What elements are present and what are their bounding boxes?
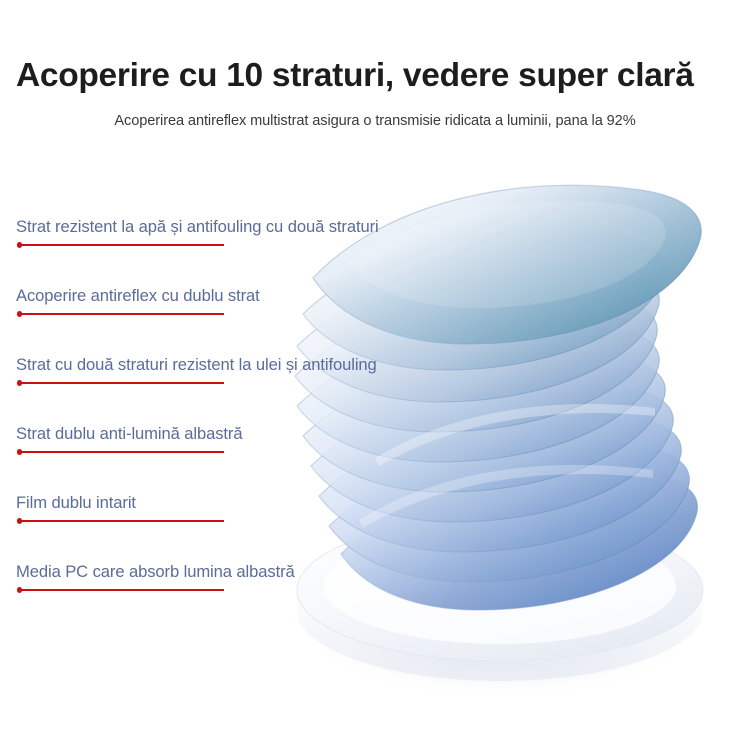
callout-item-6: Media PC care absorb lumina albastră bbox=[16, 563, 456, 591]
callout-list: Strat rezistent la apă și antifouling cu… bbox=[0, 0, 470, 744]
callout-rule-6 bbox=[18, 589, 224, 591]
callout-item-5: Film dublu intarit bbox=[16, 494, 456, 522]
callout-label-6: Media PC care absorb lumina albastră bbox=[16, 563, 456, 581]
callout-item-1: Strat rezistent la apă și antifouling cu… bbox=[16, 218, 456, 246]
callout-label-1: Strat rezistent la apă și antifouling cu… bbox=[16, 218, 456, 236]
callout-label-4: Strat dublu anti-lumină albastră bbox=[16, 425, 456, 443]
callout-label-3: Strat cu două straturi rezistent la ulei… bbox=[16, 356, 456, 374]
callout-label-2: Acoperire antireflex cu dublu strat bbox=[16, 287, 456, 305]
callout-item-2: Acoperire antireflex cu dublu strat bbox=[16, 287, 456, 315]
callout-rule-3 bbox=[18, 382, 224, 384]
callout-rule-5 bbox=[18, 520, 224, 522]
callout-item-3: Strat cu două straturi rezistent la ulei… bbox=[16, 356, 456, 384]
promo-page: Acoperire cu 10 straturi, vedere super c… bbox=[0, 0, 750, 744]
callout-rule-1 bbox=[18, 244, 224, 246]
callout-rule-2 bbox=[18, 313, 224, 315]
callout-item-4: Strat dublu anti-lumină albastră bbox=[16, 425, 456, 453]
callout-label-5: Film dublu intarit bbox=[16, 494, 456, 512]
callout-rule-4 bbox=[18, 451, 224, 453]
